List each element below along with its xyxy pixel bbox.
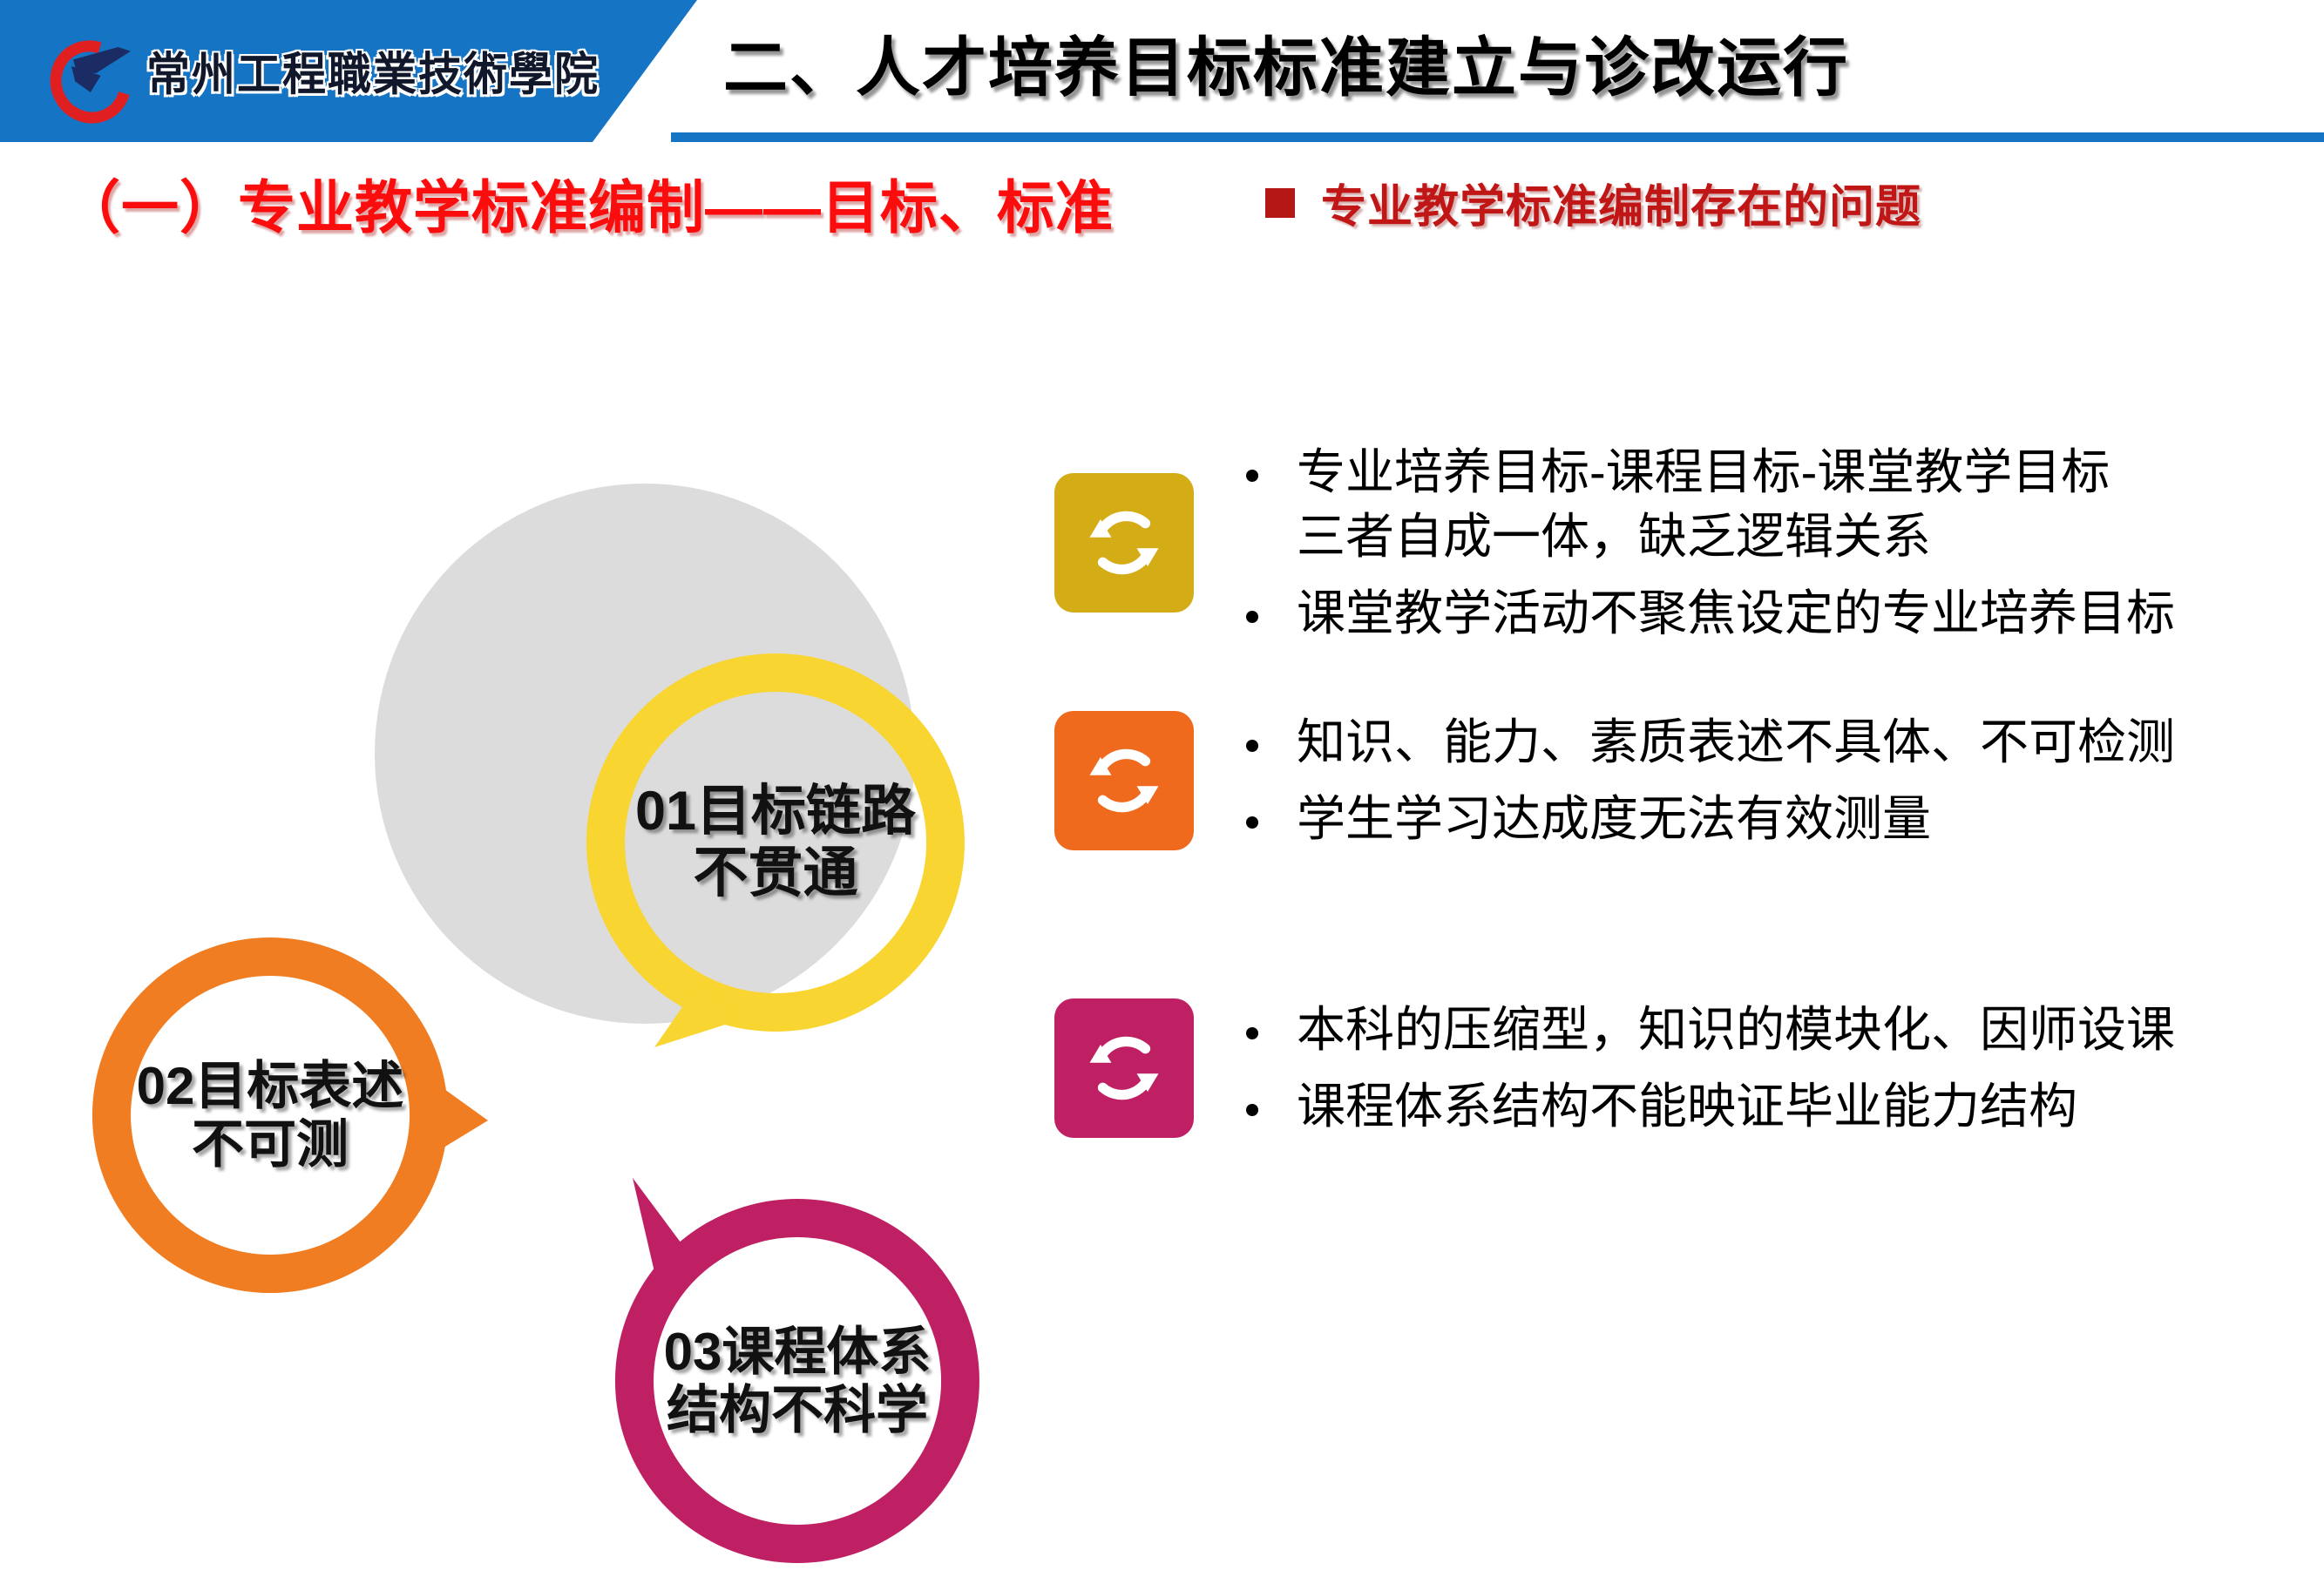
refresh-cycle-icon[interactable]: [1054, 473, 1194, 613]
content-row-2-text: 知识、能力、素质表述不具体、不可检测 学生学习达成度无法有效测量: [1246, 710, 2175, 851]
subtitle-row: （一）专业教学标准编制——目标、标准 专业教学标准编制存在的问题: [0, 161, 2324, 257]
subtitle-highlight-label: 专业教学标准编制存在的问题: [1321, 170, 1921, 235]
bubble-03[interactable]: 03课程体系 结构不科学: [601, 1185, 993, 1577]
bullet-dot-icon: [1246, 816, 1258, 829]
bubble-03-tail-shape: [633, 1178, 699, 1276]
list-item: 专业培养目标-课程目标-课堂教学目标 三者自成一体，缺乏逻辑关系: [1246, 440, 2175, 569]
institution-logo: 常州工程職業技術學院: [51, 31, 608, 110]
section-subtitle: （一）专业教学标准编制——目标、标准: [63, 161, 1114, 245]
content-row-1-text: 专业培养目标-课程目标-课堂教学目标 三者自成一体，缺乏逻辑关系 课堂教学活动不…: [1246, 440, 2175, 646]
content-row-3: 本科的压缩型，知识的模块化、因师设课 课程体系结构不能映证毕业能力结构: [1054, 998, 2175, 1139]
bubble-01[interactable]: 01目标链路 不贯通: [571, 638, 980, 1047]
content-row-1: 专业培养目标-课程目标-课堂教学目标 三者自成一体，缺乏逻辑关系 课堂教学活动不…: [1054, 440, 2175, 646]
bullet-text: 学生学习达成度无法有效测量: [1297, 787, 1931, 851]
refresh-cycle-icon[interactable]: [1054, 998, 1194, 1138]
list-item: 课程体系结构不能映证毕业能力结构: [1246, 1074, 2175, 1139]
bubble-02[interactable]: 02目标表述 不可测: [78, 924, 462, 1307]
list-item: 知识、能力、素质表述不具体、不可检测: [1246, 710, 2175, 775]
institution-name: 常州工程職業技術學院: [146, 37, 600, 104]
bubble-02-ring-shape: [92, 937, 448, 1293]
bullet-text: 知识、能力、素质表述不具体、不可检测: [1297, 710, 2175, 775]
subtitle-highlight: 专业教学标准编制存在的问题: [1265, 170, 1921, 235]
bubble-02-tail-shape: [417, 1072, 488, 1164]
bubble-01-ring-shape: [586, 653, 965, 1032]
content-row-3-text: 本科的压缩型，知识的模块化、因师设课 课程体系结构不能映证毕业能力结构: [1246, 998, 2175, 1139]
bullet-dot-icon: [1246, 611, 1258, 623]
bullet-dot-icon: [1246, 1027, 1258, 1039]
slide-header: 常州工程職業技術學院 二、人才培养目标标准建立与诊改运行: [0, 0, 2324, 152]
page-title: 二、人才培养目标标准建立与诊改运行: [723, 26, 2205, 109]
header-divider-line: [671, 132, 2324, 142]
bullet-dot-icon: [1246, 470, 1258, 482]
list-item: 课堂教学活动不聚焦设定的专业培养目标: [1246, 581, 2175, 646]
bullet-dot-icon: [1246, 740, 1258, 752]
list-item: 本科的压缩型，知识的模块化、因师设课: [1246, 998, 2175, 1062]
content-row-2: 知识、能力、素质表述不具体、不可检测 学生学习达成度无法有效测量: [1054, 710, 2175, 851]
bullet-text: 本科的压缩型，知识的模块化、因师设课: [1297, 998, 2175, 1062]
bullet-text: 课堂教学活动不聚焦设定的专业培养目标: [1297, 581, 2175, 646]
refresh-cycle-icon[interactable]: [1054, 711, 1194, 850]
square-bullet-icon: [1265, 188, 1295, 218]
list-item: 学生学习达成度无法有效测量: [1246, 787, 2175, 851]
problem-bubbles-diagram: 01目标链路 不贯通 02目标表述 不可测 03课程体系 结构不科学: [0, 314, 1072, 1289]
bullet-text: 三者自成一体，缺乏逻辑关系: [1297, 504, 2110, 569]
university-emblem-icon: [51, 37, 131, 105]
bullet-dot-icon: [1246, 1104, 1258, 1116]
bullet-text: 课程体系结构不能映证毕业能力结构: [1297, 1074, 2077, 1139]
bullet-text: 专业培养目标-课程目标-课堂教学目标: [1297, 440, 2110, 504]
